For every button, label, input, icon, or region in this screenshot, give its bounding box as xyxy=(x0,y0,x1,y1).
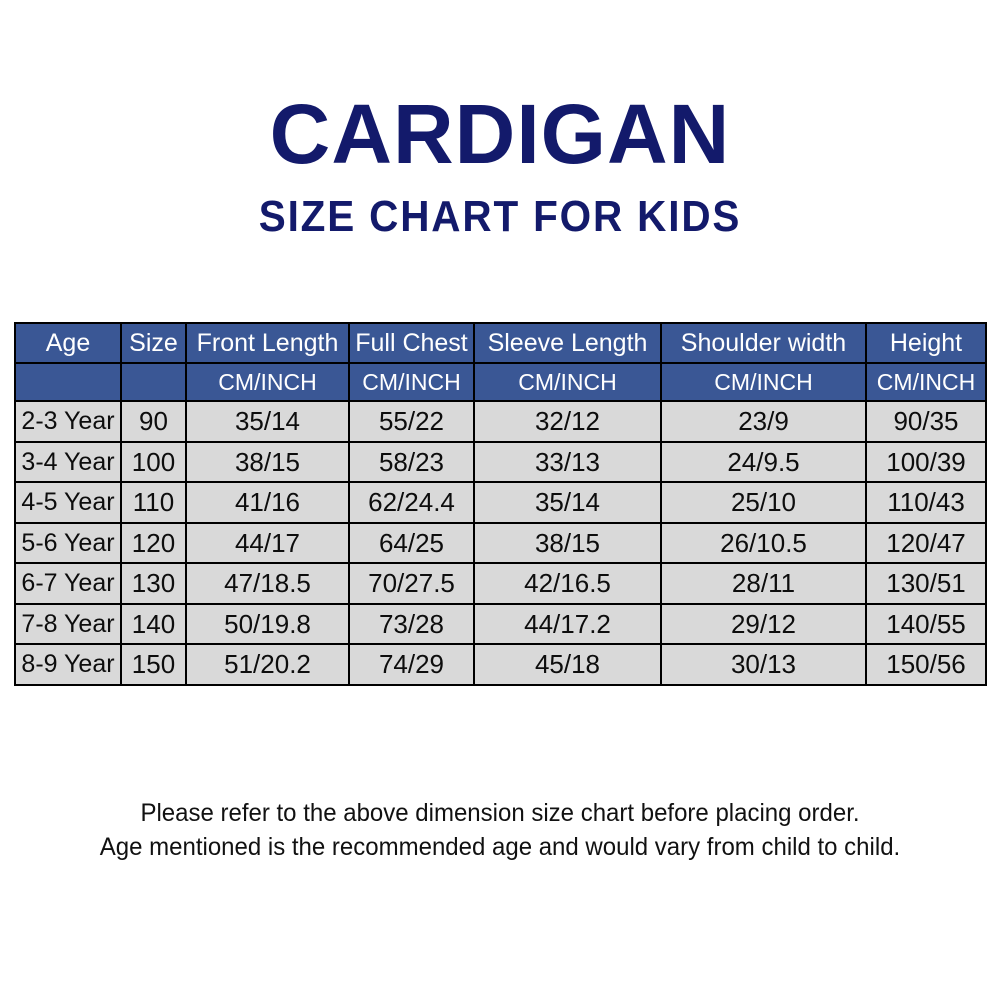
title-block: CARDIGAN SIZE CHART FOR KIDS xyxy=(0,92,1000,240)
cell-front-length: 35/14 xyxy=(186,401,349,442)
table-row: 7-8 Year14050/19.873/2844/17.229/12140/5… xyxy=(15,604,986,645)
column-units-size xyxy=(121,363,186,401)
table-header-row-labels: Age Size Front Length Full Chest Sleeve … xyxy=(15,323,986,363)
cell-size: 100 xyxy=(121,442,186,483)
footer-note: Please refer to the above dimension size… xyxy=(20,796,980,864)
cell-sleeve-length: 45/18 xyxy=(474,644,661,685)
cell-height: 130/51 xyxy=(866,563,986,604)
size-chart-page: CARDIGAN SIZE CHART FOR KIDS Age Size Fr… xyxy=(0,0,1000,1000)
column-units-full-chest: CM/INCH xyxy=(349,363,474,401)
cell-size: 150 xyxy=(121,644,186,685)
cell-shoulder-width: 30/13 xyxy=(661,644,866,685)
cell-full-chest: 64/25 xyxy=(349,523,474,564)
column-units-shoulder-width: CM/INCH xyxy=(661,363,866,401)
cell-full-chest: 62/24.4 xyxy=(349,482,474,523)
cell-sleeve-length: 32/12 xyxy=(474,401,661,442)
table-body: 2-3 Year9035/1455/2232/1223/990/353-4 Ye… xyxy=(15,401,986,685)
table-row: 4-5 Year11041/1662/24.435/1425/10110/43 xyxy=(15,482,986,523)
cell-sleeve-length: 38/15 xyxy=(474,523,661,564)
cell-front-length: 47/18.5 xyxy=(186,563,349,604)
table-row: 6-7 Year13047/18.570/27.542/16.528/11130… xyxy=(15,563,986,604)
cell-shoulder-width: 26/10.5 xyxy=(661,523,866,564)
column-units-height: CM/INCH xyxy=(866,363,986,401)
page-subtitle: SIZE CHART FOR KIDS xyxy=(40,194,960,240)
cell-shoulder-width: 25/10 xyxy=(661,482,866,523)
cell-full-chest: 73/28 xyxy=(349,604,474,645)
cell-front-length: 51/20.2 xyxy=(186,644,349,685)
cell-age: 6-7 Year xyxy=(15,563,121,604)
column-header-sleeve-length: Sleeve Length xyxy=(474,323,661,363)
cell-shoulder-width: 24/9.5 xyxy=(661,442,866,483)
table-row: 3-4 Year10038/1558/2333/1324/9.5100/39 xyxy=(15,442,986,483)
column-header-age: Age xyxy=(15,323,121,363)
cell-front-length: 38/15 xyxy=(186,442,349,483)
cell-age: 3-4 Year xyxy=(15,442,121,483)
cell-height: 100/39 xyxy=(866,442,986,483)
cell-age: 2-3 Year xyxy=(15,401,121,442)
cell-shoulder-width: 23/9 xyxy=(661,401,866,442)
column-units-sleeve-length: CM/INCH xyxy=(474,363,661,401)
cell-height: 120/47 xyxy=(866,523,986,564)
column-header-front-length: Front Length xyxy=(186,323,349,363)
size-chart-table: Age Size Front Length Full Chest Sleeve … xyxy=(14,322,987,686)
cell-height: 140/55 xyxy=(866,604,986,645)
cell-height: 90/35 xyxy=(866,401,986,442)
column-header-shoulder-width: Shoulder width xyxy=(661,323,866,363)
cell-sleeve-length: 33/13 xyxy=(474,442,661,483)
cell-age: 8-9 Year xyxy=(15,644,121,685)
cell-front-length: 41/16 xyxy=(186,482,349,523)
cell-shoulder-width: 29/12 xyxy=(661,604,866,645)
cell-size: 120 xyxy=(121,523,186,564)
cell-sleeve-length: 44/17.2 xyxy=(474,604,661,645)
cell-front-length: 44/17 xyxy=(186,523,349,564)
cell-height: 110/43 xyxy=(866,482,986,523)
cell-full-chest: 58/23 xyxy=(349,442,474,483)
cell-full-chest: 70/27.5 xyxy=(349,563,474,604)
column-header-size: Size xyxy=(121,323,186,363)
cell-full-chest: 74/29 xyxy=(349,644,474,685)
column-header-height: Height xyxy=(866,323,986,363)
footer-note-line-2: Age mentioned is the recommended age and… xyxy=(20,830,980,864)
cell-front-length: 50/19.8 xyxy=(186,604,349,645)
cell-size: 90 xyxy=(121,401,186,442)
table-row: 5-6 Year12044/1764/2538/1526/10.5120/47 xyxy=(15,523,986,564)
cell-age: 5-6 Year xyxy=(15,523,121,564)
footer-note-line-1: Please refer to the above dimension size… xyxy=(20,796,980,830)
column-units-age xyxy=(15,363,121,401)
page-title: CARDIGAN xyxy=(0,92,1000,176)
table-header-row-units: CM/INCH CM/INCH CM/INCH CM/INCH CM/INCH xyxy=(15,363,986,401)
cell-sleeve-length: 42/16.5 xyxy=(474,563,661,604)
cell-full-chest: 55/22 xyxy=(349,401,474,442)
cell-size: 110 xyxy=(121,482,186,523)
column-units-front-length: CM/INCH xyxy=(186,363,349,401)
cell-shoulder-width: 28/11 xyxy=(661,563,866,604)
table-header: Age Size Front Length Full Chest Sleeve … xyxy=(15,323,986,401)
cell-size: 130 xyxy=(121,563,186,604)
cell-age: 7-8 Year xyxy=(15,604,121,645)
column-header-full-chest: Full Chest xyxy=(349,323,474,363)
table-row: 8-9 Year15051/20.274/2945/1830/13150/56 xyxy=(15,644,986,685)
cell-sleeve-length: 35/14 xyxy=(474,482,661,523)
size-chart-table-wrapper: Age Size Front Length Full Chest Sleeve … xyxy=(14,322,985,686)
cell-size: 140 xyxy=(121,604,186,645)
table-row: 2-3 Year9035/1455/2232/1223/990/35 xyxy=(15,401,986,442)
cell-age: 4-5 Year xyxy=(15,482,121,523)
cell-height: 150/56 xyxy=(866,644,986,685)
